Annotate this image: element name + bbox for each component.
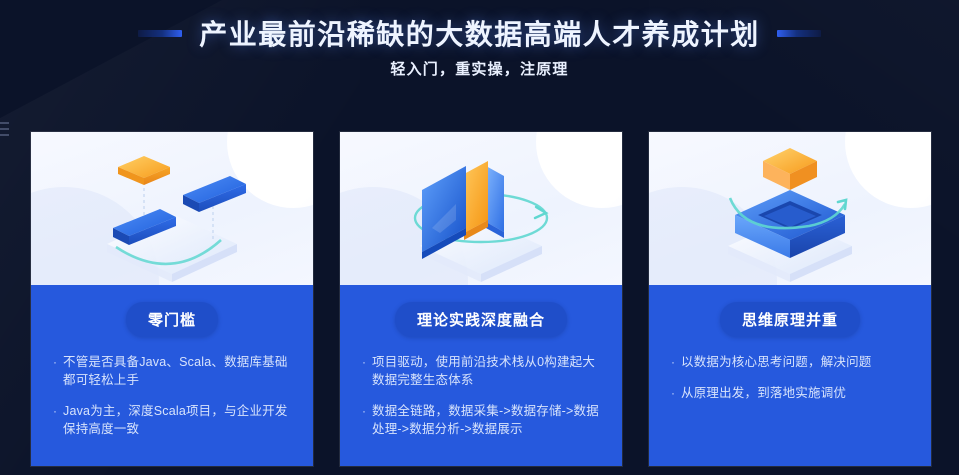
stacked-bars-graphic (31, 132, 313, 285)
bullet-text: 数据全链路，数据采集->数据存储->数据处理->数据分析->数据展示 (372, 402, 602, 438)
cube-socket-graphic (649, 132, 931, 285)
card-pill-label: 零门槛 (126, 302, 218, 337)
card-pill-label: 理论实践深度融合 (395, 302, 567, 337)
feature-card[interactable]: 零门槛 · 不管是否具备Java、Scala、数据库基础都可轻松上手 · Jav… (31, 132, 313, 466)
card-bullet-list: · 不管是否具备Java、Scala、数据库基础都可轻松上手 · Java为主，… (31, 353, 313, 451)
list-item: · 不管是否具备Java、Scala、数据库基础都可轻松上手 (53, 353, 293, 389)
left-edge-tick-marks (0, 122, 9, 140)
card-bullet-list: · 以数据为核心思考问题，解决问题 · 从原理出发，到落地实施调优 (649, 353, 931, 415)
bullet-marker-icon: · (53, 353, 62, 389)
header: 产业最前沿稀缺的大数据高端人才养成计划 轻入门，重实操，注原理 (0, 0, 959, 118)
gradient-bar-left-icon (138, 30, 182, 37)
layered-panels-graphic (340, 132, 622, 285)
bullet-text: 项目驱动，使用前沿技术栈从0构建起大数据完整生态体系 (372, 353, 602, 389)
bullet-text: Java为主，深度Scala项目，与企业开发保持高度一致 (63, 402, 293, 438)
card-body: 理论实践深度融合 · 项目驱动，使用前沿技术栈从0构建起大数据完整生态体系 · … (340, 285, 622, 466)
card-bullet-list: · 项目驱动，使用前沿技术栈从0构建起大数据完整生态体系 · 数据全链路，数据采… (340, 353, 622, 451)
bullet-text: 从原理出发，到落地实施调优 (681, 384, 846, 402)
feature-card[interactable]: 思维原理并重 · 以数据为核心思考问题，解决问题 · 从原理出发，到落地实施调优 (649, 132, 931, 466)
list-item: · Java为主，深度Scala项目，与企业开发保持高度一致 (53, 402, 293, 438)
isometric-layered-panels-illustration (340, 132, 622, 285)
bullet-text: 以数据为核心思考问题，解决问题 (681, 353, 872, 371)
bullet-marker-icon: · (362, 402, 371, 438)
list-item: · 以数据为核心思考问题，解决问题 (671, 353, 911, 371)
card-body: 思维原理并重 · 以数据为核心思考问题，解决问题 · 从原理出发，到落地实施调优 (649, 285, 931, 466)
list-item: · 数据全链路，数据采集->数据存储->数据处理->数据分析->数据展示 (362, 402, 602, 438)
card-body: 零门槛 · 不管是否具备Java、Scala、数据库基础都可轻松上手 · Jav… (31, 285, 313, 466)
card-pill-label: 思维原理并重 (720, 302, 860, 337)
bullet-text: 不管是否具备Java、Scala、数据库基础都可轻松上手 (63, 353, 293, 389)
feature-card-list: 零门槛 · 不管是否具备Java、Scala、数据库基础都可轻松上手 · Jav… (31, 132, 933, 466)
bullet-marker-icon: · (362, 353, 371, 389)
isometric-stacked-bars-illustration (31, 132, 313, 285)
list-item: · 从原理出发，到落地实施调优 (671, 384, 911, 402)
isometric-cube-socket-illustration (649, 132, 931, 285)
bullet-marker-icon: · (53, 402, 62, 438)
gradient-bar-right-icon (777, 30, 821, 37)
feature-card[interactable]: 理论实践深度融合 · 项目驱动，使用前沿技术栈从0构建起大数据完整生态体系 · … (340, 132, 622, 466)
page-title: 产业最前沿稀缺的大数据高端人才养成计划 (199, 13, 760, 53)
page-subtitle: 轻入门，重实操，注原理 (0, 58, 959, 79)
bullet-marker-icon: · (671, 384, 680, 402)
list-item: · 项目驱动，使用前沿技术栈从0构建起大数据完整生态体系 (362, 353, 602, 389)
bullet-marker-icon: · (671, 353, 680, 371)
title-row: 产业最前沿稀缺的大数据高端人才养成计划 (0, 13, 959, 53)
